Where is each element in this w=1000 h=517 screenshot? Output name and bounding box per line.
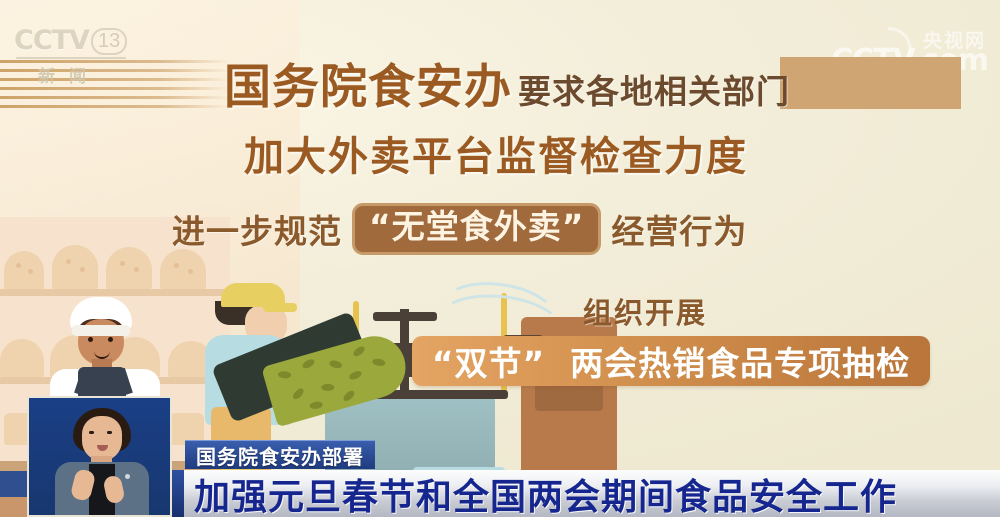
headline-banner: “双节” 两会热销食品专项抽检 (412, 336, 930, 386)
cctv-logo-rule (16, 57, 126, 59)
headline-line-1: 国务院食安办 要求各地相关部门 (224, 48, 790, 117)
sign-language-interpreter-inset (27, 396, 172, 517)
lower-third-badge-text: 国务院食安办部署 (196, 441, 364, 470)
headline-banner-text: “双节” 两会热销食品专项抽检 (432, 337, 910, 385)
headline-line-3: 进一步规范 “无堂食外卖” 经营行为 (172, 203, 747, 255)
headline-line-2: 加大外卖平台监督检查力度 (244, 124, 748, 182)
headline-line-3-prefix: 进一步规范 (172, 205, 342, 253)
headline-line-1-emphasis: 国务院食安办 (224, 48, 512, 117)
tan-accent-block (780, 57, 961, 109)
headline-line-3-suffix: 经营行为 (611, 205, 747, 253)
lower-third-badge: 国务院食安办部署 (185, 440, 375, 469)
headline-line-4: 组织开展 (583, 290, 707, 332)
cctv13-logo: CCTV13 新闻 (14, 27, 142, 83)
headline-line-3-chip: “无堂食外卖” (352, 203, 601, 255)
broadcast-screen: CCTV13 新闻 央视网 CCTV.com (0, 0, 1000, 517)
lower-third-accent-bar (172, 470, 184, 517)
cctv-logo-text: CCTV (14, 25, 89, 56)
lower-third-strap: 加强元旦春节和全国两会期间食品安全工作 (172, 470, 1000, 517)
headline-line-1-rest: 要求各地相关部门 (518, 65, 790, 113)
cctv-logo-subtitle: 新闻 (14, 62, 124, 87)
lower-third-headline: 加强元旦春节和全国两会期间食品安全工作 (194, 468, 897, 517)
cctv-logo-channel-number: 13 (91, 28, 127, 55)
